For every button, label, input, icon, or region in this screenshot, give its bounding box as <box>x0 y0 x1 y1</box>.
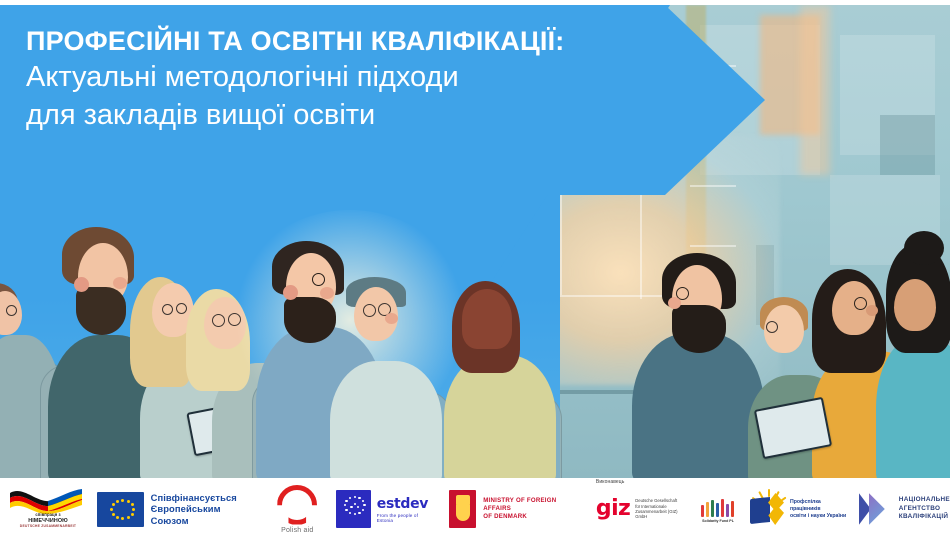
title-line-2: Актуальні методологічні підходи <box>26 58 666 96</box>
trade-union-text: Профспілка працівників освіти і науки Ук… <box>790 499 847 520</box>
estdev-star-circle-icon <box>336 490 371 528</box>
implementer-label: Виконавець <box>596 479 625 485</box>
estdev-text: estdev From the people of Estonia <box>377 496 431 523</box>
denmark-crown-crest-icon <box>449 490 476 528</box>
eu-funding-text: Співфінансується Європейським Союзом <box>151 492 251 526</box>
poster-title: ПРОФЕСІЙНІ ТА ОСВІТНІ КВАЛІФІКАЦІЇ: Акту… <box>26 24 666 134</box>
logo-education-trade-union: Профспілка працівників освіти і науки Ук… <box>748 489 847 529</box>
giz-icon: giz <box>596 499 630 519</box>
logo-national-qualifications-agency: НАЦІОНАЛЬНЕ АГЕНТСТВО КВАЛІФІКАЦІЙ <box>859 491 950 527</box>
logo-european-union: Співфінансується Європейським Союзом <box>97 492 251 527</box>
partner-logo-bar: співпраця з НІМЕЧЧИНОЮ DEUTSCHE ZUSAMMEN… <box>0 478 950 540</box>
window-light <box>800 5 830 175</box>
wall-line <box>690 245 736 247</box>
book-flame-icon <box>748 489 786 529</box>
nqa-text: НАЦІОНАЛЬНЕ АГЕНТСТВО КВАЛІФІКАЦІЙ <box>899 496 950 522</box>
giz-fullname: Deutsche Gesellschaft für Internationale… <box>635 498 682 520</box>
logo-denmark-mfa: MINISTRY OF FOREIGN AFFAIRS OF DENMARK <box>449 490 576 528</box>
polish-aid-icon <box>277 485 317 525</box>
german-cooperation-caption: співпраця з НІМЕЧЧИНОЮ DEUTSCHE ZUSAMMEN… <box>12 512 84 530</box>
wall-line <box>690 185 736 187</box>
wall-shadow <box>880 115 935 175</box>
denmark-mfa-text: MINISTRY OF FOREIGN AFFAIRS OF DENMARK <box>483 497 576 521</box>
logo-solidarity-fund-pl: Solidarity Fund PL <box>698 495 738 523</box>
eu-flag-icon <box>97 492 144 527</box>
logo-german-cooperation: співпраця з НІМЕЧЧИНОЮ DEUTSCHE ZUSAMMEN… <box>8 486 81 532</box>
german-ukrainian-flag-icon <box>8 488 84 514</box>
poster-banner: ПРОФЕСІЙНІ ТА ОСВІТНІ КВАЛІФІКАЦІЇ: Акту… <box>0 0 950 540</box>
double-arrow-icon <box>859 491 893 527</box>
logo-giz: Виконавець giz Deutsche Gesellschaft für… <box>596 498 682 520</box>
logo-estdev: estdev From the people of Estonia <box>336 490 431 528</box>
title-line-1: ПРОФЕСІЙНІ ТА ОСВІТНІ КВАЛІФІКАЦІЇ: <box>26 24 666 58</box>
title-line-3: для закладів вищої освіти <box>26 96 666 134</box>
logo-polish-aid: Polish aid <box>273 485 322 534</box>
solidarity-people-icon <box>698 495 738 517</box>
